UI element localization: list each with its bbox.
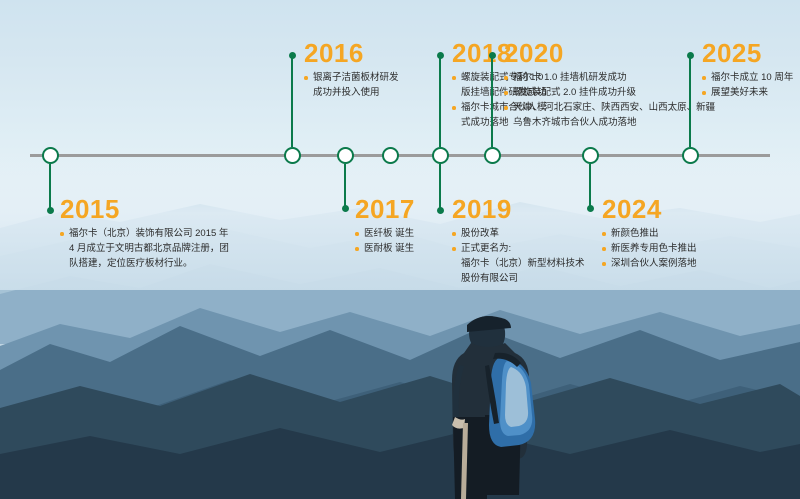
- milestone-line: 4 月成立于文明古都北京品牌注册，团: [60, 241, 229, 256]
- timeline-axis: [30, 154, 770, 157]
- milestone-line: 深圳合伙人案例落地: [602, 256, 697, 271]
- timeline-node-endcap-2018: [437, 52, 444, 59]
- milestone-line: 福尔卡 1.0 挂墙机研发成功: [504, 70, 715, 85]
- timeline-node-stem-2017: [344, 164, 346, 208]
- timeline-infographic: 2015 福尔卡（北京）装饰有限公司 2015 年 4 月成立于文明古都北京品牌…: [0, 0, 800, 499]
- milestone-year-2016: 2016: [304, 40, 364, 66]
- timeline-node-endcap-2025: [687, 52, 694, 59]
- milestone-line: 医耐板 诞生: [355, 241, 414, 256]
- mountain-ridge-near-2: [0, 350, 800, 499]
- milestone-items-2019: 股份改革 正式更名为: 福尔卡（北京）新型材料技术 股份有限公司: [452, 226, 585, 286]
- timeline-node-dot-2025[interactable]: [682, 147, 699, 164]
- milestone-items-2015: 福尔卡（北京）装饰有限公司 2015 年 4 月成立于文明古都北京品牌注册，团 …: [60, 226, 229, 271]
- milestone-line: 乌鲁木齐城市合伙人成功落地: [504, 115, 715, 130]
- milestone-year-2018: 2018: [452, 40, 512, 66]
- timeline-node-dot-plain[interactable]: [382, 147, 399, 164]
- milestone-line: 正式更名为:: [452, 241, 585, 256]
- timeline-node-endcap-2019: [437, 207, 444, 214]
- milestone-line: 股份改革: [452, 226, 585, 241]
- timeline-node-endcap-2020: [489, 52, 496, 59]
- milestone-items-2024: 新颜色推出 新医养专用色卡推出 深圳合伙人案例落地: [602, 226, 697, 271]
- milestone-year-2019: 2019: [452, 196, 512, 222]
- timeline-node-endcap-2016: [289, 52, 296, 59]
- milestone-year-2015: 2015: [60, 196, 120, 222]
- timeline-node-stem-2025: [689, 55, 691, 147]
- timeline-node-endcap-2015: [47, 207, 54, 214]
- timeline-node-dot-2015[interactable]: [42, 147, 59, 164]
- milestone-line: 股份有限公司: [452, 271, 585, 286]
- hiker-figure: [415, 305, 575, 499]
- timeline-node-stem-2018: [439, 55, 441, 147]
- milestone-items-2016: 银离子洁菌板材研发 成功并投入使用: [304, 70, 399, 100]
- timeline-node-dot-2016[interactable]: [284, 147, 301, 164]
- milestone-year-2020: 2020: [504, 40, 564, 66]
- milestone-line: 展望美好未来: [702, 85, 793, 100]
- milestone-line: 银离子洁菌板材研发: [304, 70, 399, 85]
- timeline-node-stem-2024: [589, 164, 591, 208]
- milestone-items-2025: 福尔卡成立 10 周年 展望美好未来: [702, 70, 793, 100]
- milestone-line: 新医养专用色卡推出: [602, 241, 697, 256]
- milestone-line: 天津、 河北石家庄、陕西西安、山西太原、新疆: [504, 100, 715, 115]
- timeline-node-dot-2018[interactable]: [432, 147, 449, 164]
- timeline-node-stem-2019: [439, 164, 441, 210]
- milestone-line: 福尔卡成立 10 周年: [702, 70, 793, 85]
- timeline-node-dot-2020[interactable]: [484, 147, 501, 164]
- timeline-node-dot-2017[interactable]: [337, 147, 354, 164]
- milestone-line: 螺旋装配式 2.0 挂件成功升级: [504, 85, 715, 100]
- timeline-node-stem-2020: [491, 55, 493, 147]
- milestone-line: 福尔卡（北京）装饰有限公司 2015 年: [60, 226, 229, 241]
- timeline-node-stem-2015: [49, 164, 51, 210]
- milestone-line: 成功并投入使用: [304, 85, 399, 100]
- timeline-node-dot-2024[interactable]: [582, 147, 599, 164]
- milestone-line: 医纤板 诞生: [355, 226, 414, 241]
- milestone-items-2017: 医纤板 诞生 医耐板 诞生: [355, 226, 414, 256]
- milestone-items-2020: 福尔卡 1.0 挂墙机研发成功 螺旋装配式 2.0 挂件成功升级 天津、 河北石…: [504, 70, 715, 130]
- timeline-node-endcap-2024: [587, 205, 594, 212]
- milestone-line: 福尔卡（北京）新型材料技术: [452, 256, 585, 271]
- milestone-year-2024: 2024: [602, 196, 662, 222]
- milestone-year-2017: 2017: [355, 196, 415, 222]
- milestone-line: 队搭建，定位医疗板材行业。: [60, 256, 229, 271]
- timeline-node-stem-2016: [291, 55, 293, 147]
- timeline-node-endcap-2017: [342, 205, 349, 212]
- milestone-line: 新颜色推出: [602, 226, 697, 241]
- milestone-year-2025: 2025: [702, 40, 762, 66]
